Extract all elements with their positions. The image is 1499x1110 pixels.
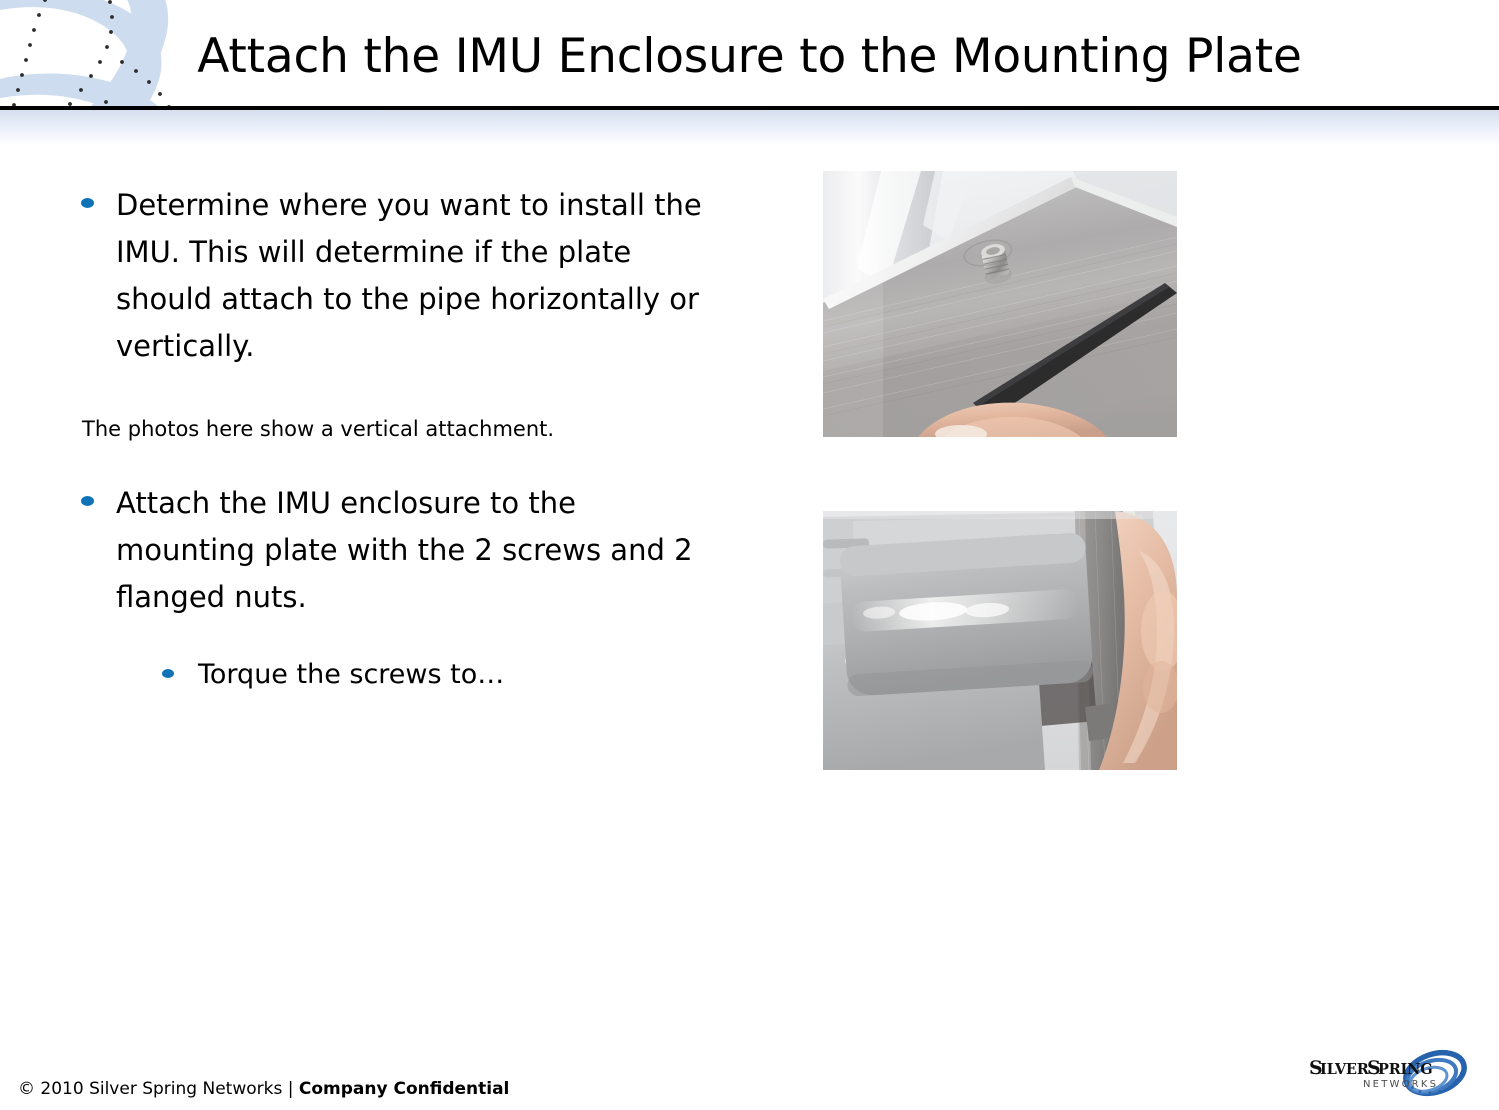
bullet-dot-icon	[162, 669, 174, 678]
bullet-text-2: Attach the IMU enclosure to the mounting…	[116, 480, 716, 621]
bullet-text-1: Determine where you want to install the …	[116, 182, 716, 370]
photo-mounting-plate-with-screw	[823, 171, 1177, 437]
note-text: The photos here show a vertical attachme…	[76, 414, 716, 444]
footer-copyright-text: © 2010 Silver Spring Networks |	[18, 1079, 299, 1099]
bullet-dot-icon	[81, 496, 94, 506]
spacer	[76, 621, 716, 653]
photo-imu-enclosure-on-plate	[823, 511, 1177, 770]
spacer	[76, 370, 716, 414]
slide-header: Attach the IMU Enclosure to the Mounting…	[0, 0, 1499, 150]
footer-copyright: © 2010 Silver Spring Networks | Company …	[18, 1078, 509, 1100]
footer-confidential-label: Company Confidential	[299, 1079, 510, 1099]
sub-bullet-text-1: Torque the screws to…	[198, 653, 716, 697]
slide-content: Determine where you want to install the …	[76, 182, 716, 697]
bullet-dot-icon	[81, 198, 94, 208]
list-item: Torque the screws to…	[76, 653, 716, 697]
header-gradient-band	[0, 110, 1499, 146]
svg-text:ILVER: ILVER	[1320, 1061, 1370, 1078]
list-item: Attach the IMU enclosure to the mounting…	[76, 480, 716, 621]
list-item: Determine where you want to install the …	[76, 182, 716, 370]
svg-text:NETWORKS: NETWORKS	[1363, 1079, 1438, 1090]
silver-spring-networks-logo-icon: S ILVER S PRING NETWORKS	[1305, 1043, 1491, 1105]
spacer	[76, 444, 716, 480]
svg-text:PRING: PRING	[1378, 1061, 1432, 1078]
page-title: Attach the IMU Enclosure to the Mounting…	[0, 26, 1499, 88]
